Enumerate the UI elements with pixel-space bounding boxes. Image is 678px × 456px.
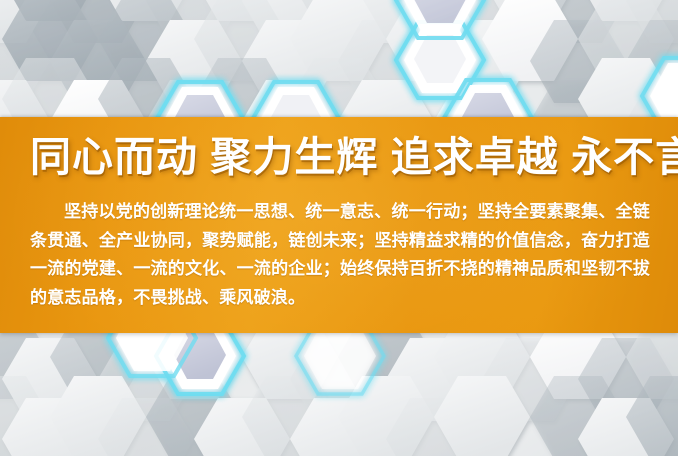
banner-headline: 同心而动 聚力生辉 追求卓越 永不言败 xyxy=(30,129,648,185)
promo-banner: 同心而动 聚力生辉 追求卓越 永不言败 坚持以党的创新理论统一思想、统一意志、统… xyxy=(0,0,678,456)
banner-body-paragraph: 坚持以党的创新理论统一思想、统一意志、统一行动；坚持全要素聚集、全链条贯通、全产… xyxy=(30,198,650,312)
